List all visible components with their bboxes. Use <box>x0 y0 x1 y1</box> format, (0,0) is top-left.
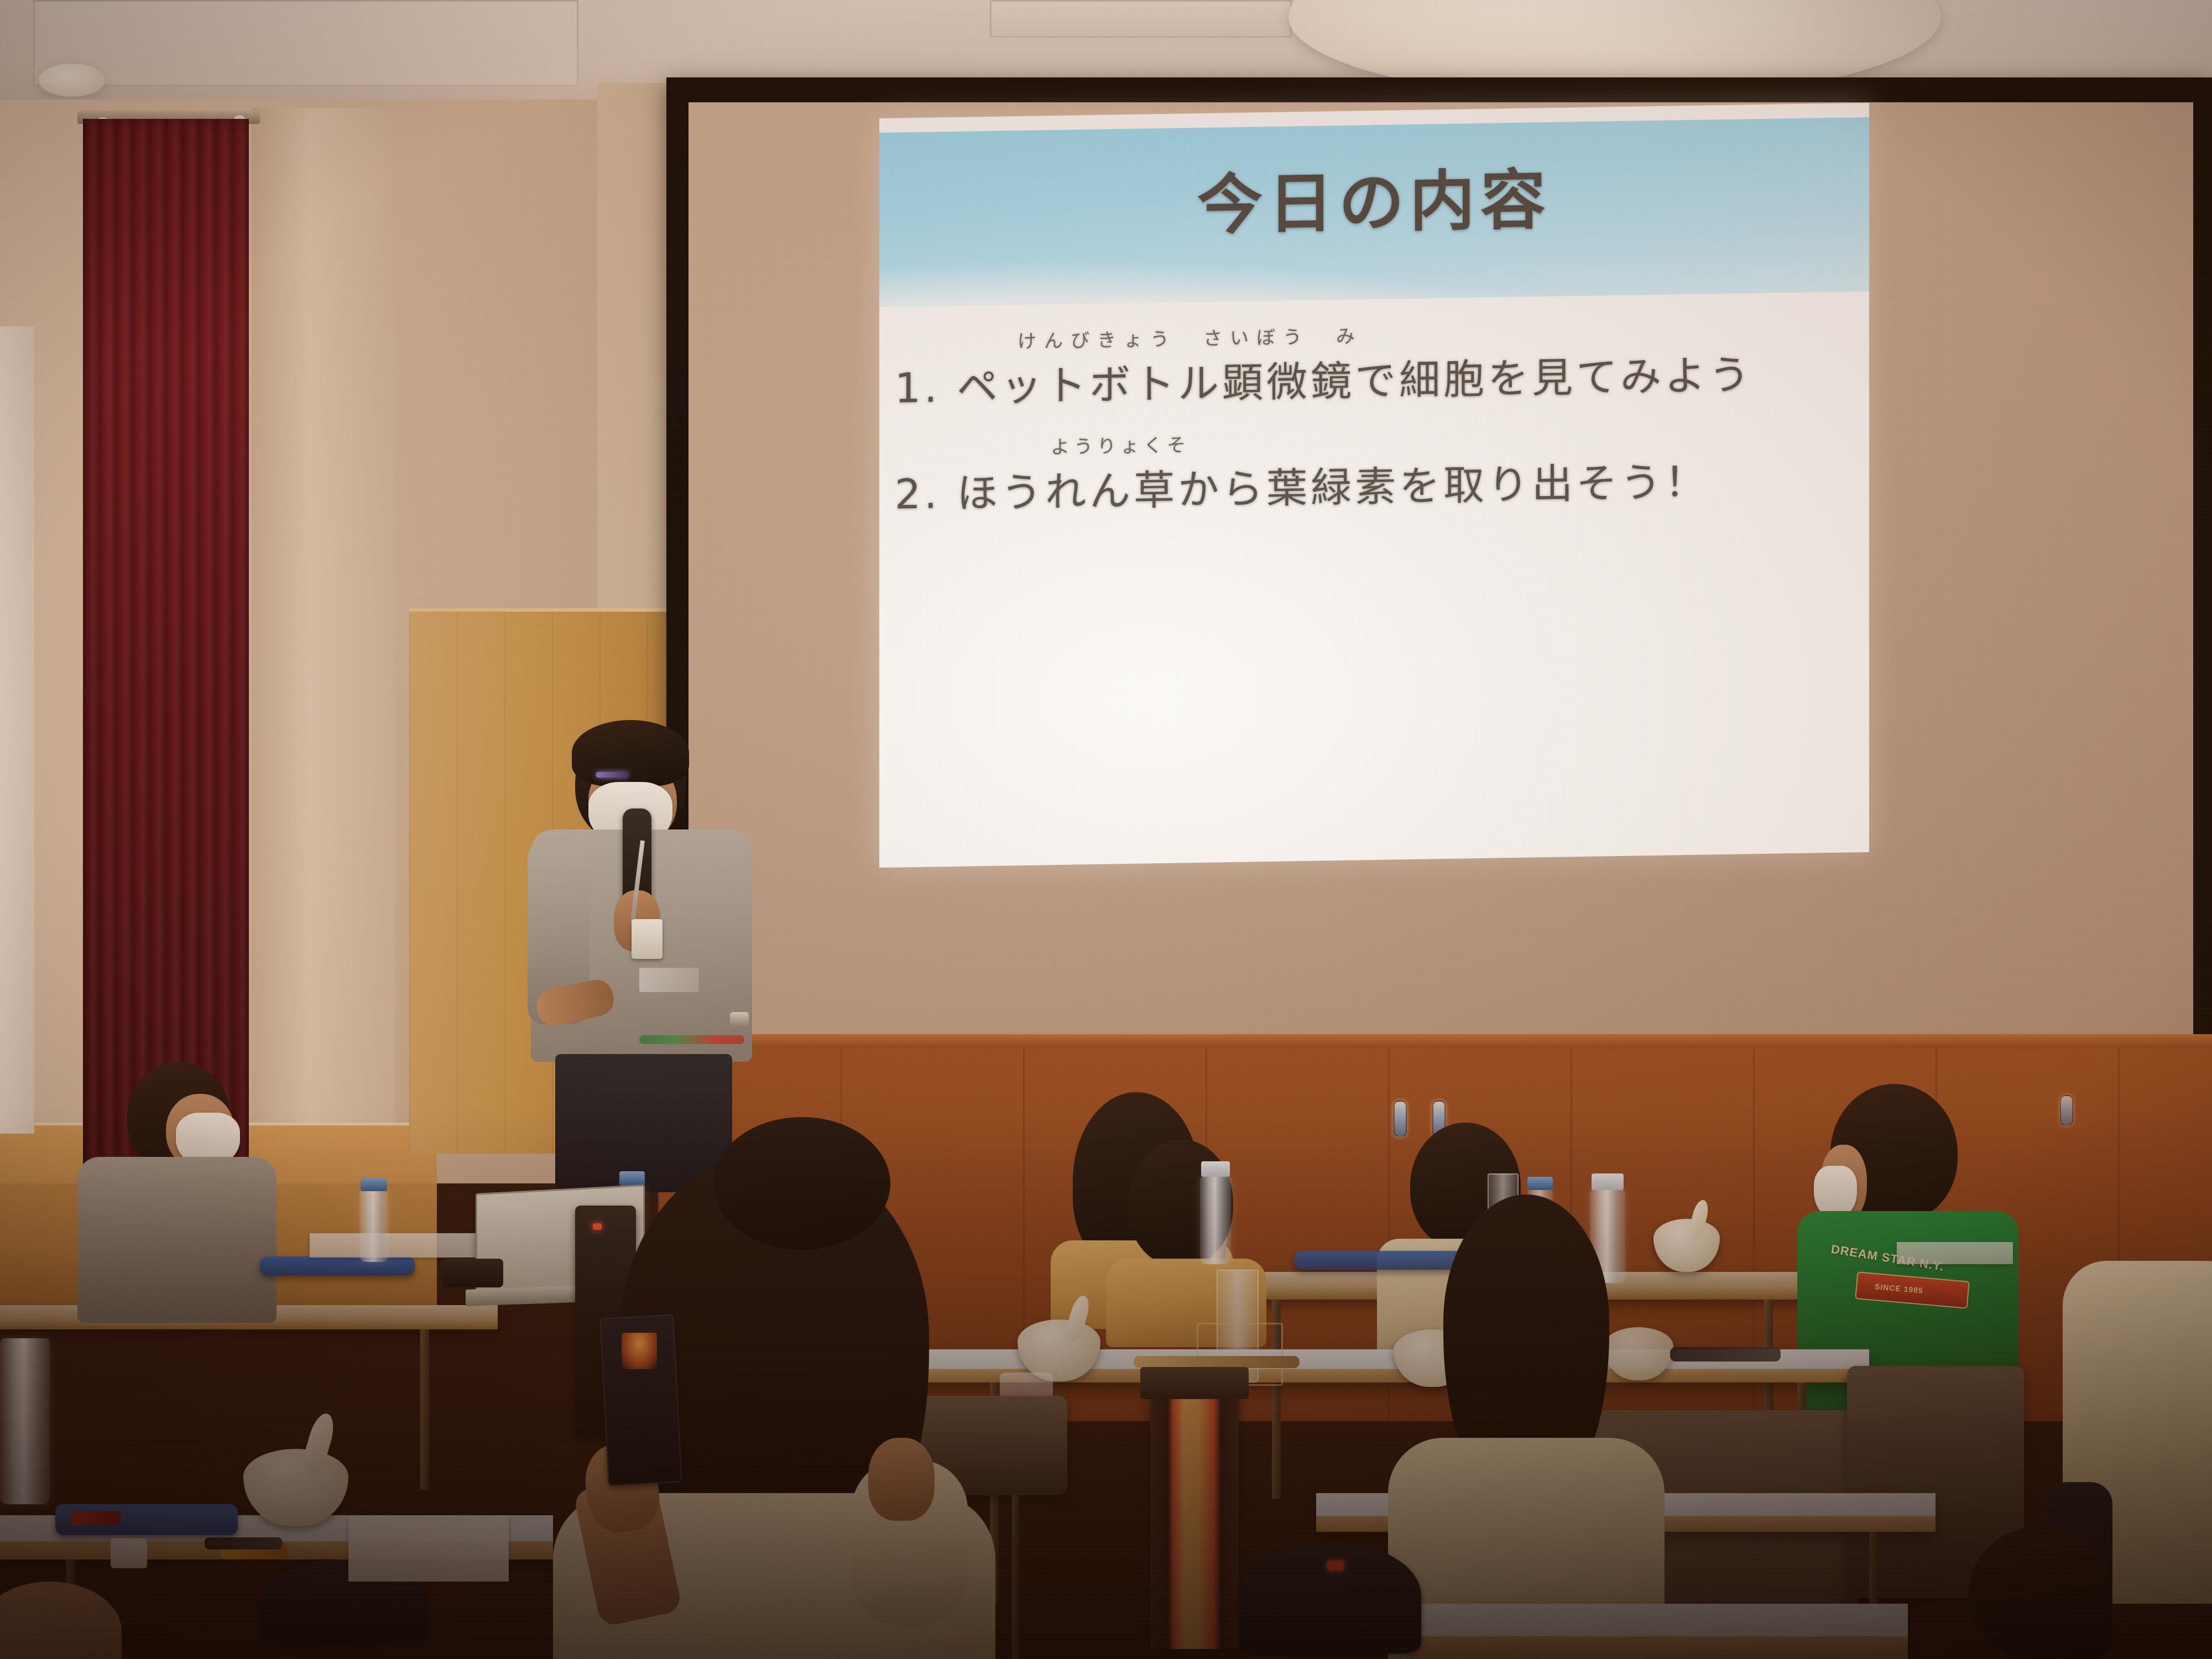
slide-bullet-2: ようりょくそ 2. ほうれん草から葉緑素を取り出そう！ <box>879 419 1869 521</box>
presenter-hair <box>572 720 689 786</box>
tweezers[interactable] <box>1670 1347 1781 1361</box>
cap-logo <box>1327 1561 1344 1571</box>
student-back-left <box>61 1062 282 1327</box>
bottle-cap[interactable] <box>1592 1173 1624 1190</box>
student-partial-right <box>1969 1493 2135 1659</box>
water-bottle[interactable] <box>0 1338 50 1504</box>
screen-surface: 今日の内容 けんびきょう さいぼう み 1. ペットボトル顕微鏡で細胞を見てみよ… <box>688 102 2193 1045</box>
spatula[interactable] <box>1134 1356 1300 1368</box>
presentation-slide: 今日の内容 けんびきょう さいぼう み 1. ペットボトル顕微鏡で細胞を見てみよ… <box>879 103 1869 868</box>
student-head <box>0 1582 122 1659</box>
lantern-cap <box>1140 1367 1249 1399</box>
water-bottle[interactable] <box>359 1190 388 1262</box>
student-photographer <box>487 1150 1051 1659</box>
ceiling-panel <box>33 0 578 86</box>
student-hair-bun <box>713 1117 890 1250</box>
shirt-graphic-stripe <box>639 1035 744 1044</box>
presenter <box>531 724 763 1183</box>
student-torso <box>77 1157 276 1323</box>
ceiling-sprinkler <box>39 64 105 97</box>
beaker-cap[interactable] <box>1527 1177 1553 1190</box>
lantern[interactable] <box>1150 1389 1239 1649</box>
eraser[interactable] <box>111 1538 147 1568</box>
student-hand-right <box>868 1438 935 1521</box>
student-front-right-cream <box>1405 1194 1659 1659</box>
door-left[interactable] <box>0 326 34 1134</box>
id-badge <box>632 919 662 959</box>
baseball-cap[interactable] <box>1239 1543 1421 1653</box>
panel-latch-icon[interactable] <box>2060 1095 2073 1126</box>
classroom-photo: 今日の内容 けんびきょう さいぼう み 1. ペットボトル顕微鏡で細胞を見てみよ… <box>0 0 2212 1659</box>
water-bottle[interactable] <box>1200 1176 1231 1264</box>
phone-flash <box>622 1333 657 1369</box>
bottle-cap[interactable] <box>361 1178 387 1191</box>
wood-wall-top-trim <box>658 1034 2212 1048</box>
worksheet <box>348 1515 509 1582</box>
curtain <box>83 119 249 1186</box>
slide-bullet-1: けんびきょう さいぼう み 1. ペットボトル顕微鏡で細胞を見てみよう <box>879 313 1869 415</box>
mortar[interactable] <box>243 1449 348 1526</box>
slide-body: けんびきょう さいぼう み 1. ペットボトル顕微鏡で細胞を見てみよう ようりょ… <box>879 313 1869 541</box>
worksheet <box>310 1233 476 1258</box>
pencil-case-label <box>71 1511 121 1525</box>
tweezers[interactable] <box>205 1537 282 1550</box>
student-head <box>1969 1526 2112 1659</box>
worksheet <box>1897 1242 2013 1264</box>
ceiling-panel <box>990 0 1292 38</box>
slide-header-band: 今日の内容 <box>879 117 1869 307</box>
wristwatch <box>730 1012 749 1026</box>
wall-pillar <box>252 108 395 1147</box>
slide-title: 今日の内容 <box>879 142 1869 252</box>
projection-screen: 今日の内容 けんびきょう さいぼう み 1. ペットボトル顕微鏡で細胞を見てみよ… <box>666 77 2212 1067</box>
desk-front-bottom <box>1410 1604 1908 1659</box>
student-partial-left <box>0 1582 155 1659</box>
glasses-icon <box>596 772 628 778</box>
shirt-logo <box>639 968 699 992</box>
desk-leg <box>420 1329 429 1490</box>
pencil-case[interactable] <box>260 1256 415 1275</box>
bottle-cap[interactable] <box>1201 1161 1230 1177</box>
